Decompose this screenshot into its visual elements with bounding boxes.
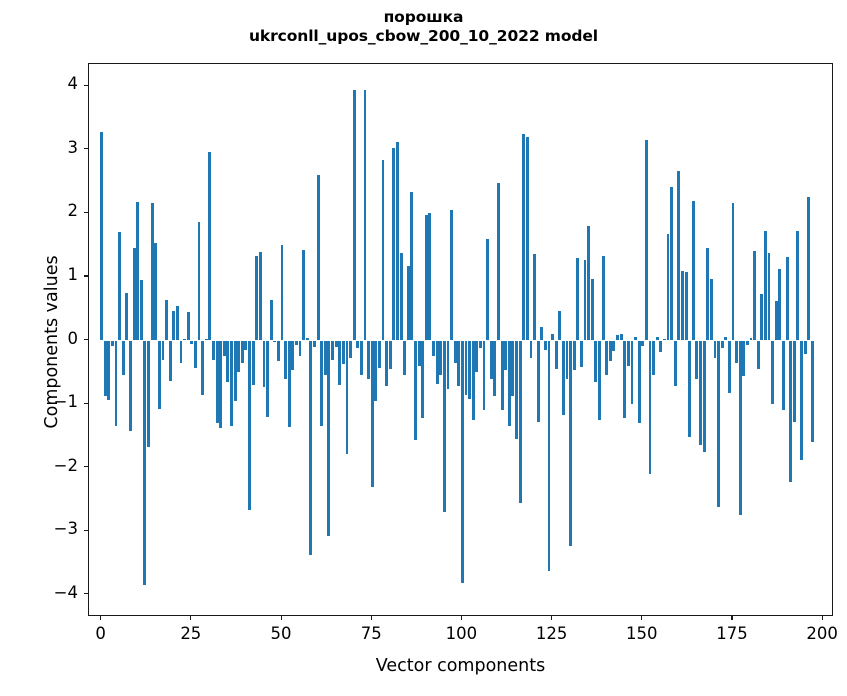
bar <box>641 341 644 346</box>
bar <box>338 341 341 385</box>
bar <box>782 341 785 411</box>
bar <box>450 210 453 341</box>
bar <box>447 341 450 390</box>
bar <box>403 341 406 376</box>
bar <box>392 148 395 341</box>
bar <box>486 239 489 341</box>
chart-title-line1: порошка <box>384 8 464 26</box>
bar <box>187 312 190 341</box>
bar <box>771 341 774 405</box>
bar <box>685 272 688 340</box>
bar <box>212 341 215 360</box>
y-tick-mark <box>84 466 88 467</box>
figure-canvas: порошкаukrconll_upos_cbow_200_10_2022 mo… <box>0 0 847 696</box>
bar <box>728 341 731 393</box>
bar <box>468 341 471 399</box>
bar <box>558 311 561 341</box>
bar <box>263 341 266 387</box>
bar <box>172 311 175 341</box>
bar <box>414 341 417 440</box>
bar <box>649 341 652 474</box>
bar <box>530 341 533 359</box>
x-tick-label: 50 <box>241 624 321 644</box>
bar <box>198 222 201 340</box>
bar <box>677 171 680 341</box>
chart-title: порошкаukrconll_upos_cbow_200_10_2022 mo… <box>0 8 847 46</box>
bar <box>609 341 612 362</box>
bar <box>739 341 742 516</box>
chart-title-line2: ukrconll_upos_cbow_200_10_2022 model <box>249 27 598 45</box>
bar <box>638 341 641 424</box>
bar <box>389 341 392 370</box>
bar <box>522 134 525 341</box>
bar <box>205 339 208 340</box>
plot-area <box>88 63 833 616</box>
y-tick-mark <box>84 212 88 213</box>
bar <box>548 341 551 571</box>
bar <box>472 341 475 420</box>
bar <box>778 269 781 341</box>
bar <box>515 341 518 440</box>
bar <box>410 192 413 340</box>
bar <box>461 341 464 583</box>
bar <box>753 251 756 341</box>
bar <box>226 341 229 383</box>
x-tick-label: 0 <box>61 624 141 644</box>
bar <box>324 341 327 376</box>
bar <box>674 341 677 387</box>
bar <box>732 203 735 341</box>
bar <box>407 266 410 340</box>
bar <box>400 253 403 341</box>
bar <box>735 341 738 363</box>
bar <box>757 341 760 370</box>
y-tick-mark <box>84 275 88 276</box>
bar <box>270 300 273 340</box>
bar <box>255 256 258 341</box>
x-tick-label: 125 <box>512 624 592 644</box>
bar <box>169 341 172 382</box>
bar <box>533 254 536 340</box>
bar <box>190 341 193 344</box>
bar <box>587 226 590 340</box>
bar <box>501 341 504 411</box>
bar <box>353 90 356 340</box>
bar <box>804 341 807 355</box>
bar <box>540 327 543 341</box>
bar <box>717 341 720 508</box>
bar <box>692 201 695 341</box>
y-tick-label: −2 <box>6 458 78 475</box>
bar <box>555 341 558 370</box>
bar <box>248 341 251 510</box>
x-tick-mark <box>731 616 732 620</box>
bar <box>652 341 655 376</box>
bar <box>594 341 597 382</box>
bar <box>443 341 446 513</box>
bar <box>360 341 363 376</box>
x-tick-mark <box>190 616 191 620</box>
bar <box>331 341 334 360</box>
bar <box>490 341 493 379</box>
bar <box>223 341 226 357</box>
bar <box>140 280 143 340</box>
bar <box>580 341 583 368</box>
bar <box>302 250 305 340</box>
x-tick-label: 100 <box>421 624 501 644</box>
bar <box>721 341 724 349</box>
bar <box>425 215 428 340</box>
bar <box>230 341 233 427</box>
x-tick-label: 150 <box>602 624 682 644</box>
bar <box>670 187 673 341</box>
bar <box>768 253 771 340</box>
bar <box>584 260 587 341</box>
bar <box>775 301 778 340</box>
bar <box>281 245 284 341</box>
bar <box>623 341 626 419</box>
bar <box>136 202 139 341</box>
bar <box>714 341 717 359</box>
bar <box>710 279 713 341</box>
bar <box>612 341 615 352</box>
bar <box>317 175 320 340</box>
bar <box>335 341 338 347</box>
x-tick-label: 200 <box>782 624 847 644</box>
bar <box>760 294 763 340</box>
bar <box>201 341 204 396</box>
bar <box>244 341 247 351</box>
bar <box>147 341 150 447</box>
bar <box>454 341 457 363</box>
x-tick-label: 175 <box>692 624 772 644</box>
y-tick-mark <box>84 85 88 86</box>
y-tick-label: 1 <box>6 267 78 284</box>
bar <box>107 341 110 400</box>
bar <box>724 337 727 340</box>
x-tick-mark <box>461 616 462 620</box>
bar <box>605 341 608 376</box>
bar <box>118 232 121 340</box>
bar <box>436 341 439 384</box>
bar <box>234 341 237 401</box>
x-tick-label: 25 <box>151 624 231 644</box>
bar <box>627 341 630 366</box>
bar <box>151 203 154 341</box>
bar <box>273 341 276 342</box>
bar <box>659 341 662 352</box>
bar <box>807 197 810 341</box>
x-tick-mark <box>641 616 642 620</box>
bar <box>645 140 648 341</box>
bar <box>576 258 579 341</box>
y-tick-label: 2 <box>6 203 78 220</box>
bar <box>811 341 814 443</box>
bar <box>237 341 240 373</box>
bar <box>591 279 594 341</box>
bar <box>511 341 514 397</box>
bar <box>295 341 298 345</box>
bar <box>364 90 367 340</box>
bar <box>216 341 219 424</box>
bar <box>208 152 211 341</box>
bar <box>569 341 572 547</box>
bar <box>475 341 478 373</box>
y-tick-mark <box>84 530 88 531</box>
bar-series <box>89 64 832 615</box>
bar <box>133 248 136 340</box>
bar <box>259 252 262 341</box>
bar <box>288 341 291 427</box>
bar <box>313 341 316 347</box>
bar <box>154 243 157 340</box>
bar <box>566 341 569 379</box>
bar <box>165 300 168 340</box>
bar <box>504 341 507 371</box>
bar <box>129 341 132 431</box>
bar <box>396 142 399 340</box>
bar <box>421 341 424 419</box>
bar <box>537 341 540 422</box>
bar <box>115 341 118 427</box>
y-tick-label: −3 <box>6 521 78 538</box>
bar <box>796 231 799 341</box>
bar <box>299 341 302 356</box>
bar <box>526 137 529 340</box>
bar <box>681 271 684 341</box>
bar <box>327 341 330 536</box>
bar <box>277 341 280 361</box>
bar <box>104 341 107 397</box>
bar <box>706 248 709 340</box>
bar <box>544 341 547 351</box>
bar <box>241 341 244 363</box>
bar <box>385 341 388 387</box>
bar <box>439 341 442 376</box>
bar <box>598 341 601 420</box>
bar <box>306 338 309 341</box>
bar <box>309 341 312 556</box>
bar <box>125 293 128 341</box>
bar <box>418 341 421 366</box>
bar <box>786 257 789 341</box>
bar <box>493 341 496 397</box>
bar <box>551 334 554 340</box>
x-axis-label: Vector components <box>88 656 833 676</box>
bar <box>349 341 352 359</box>
bar <box>800 341 803 460</box>
y-tick-label: 0 <box>6 331 78 348</box>
bar <box>703 341 706 452</box>
x-tick-mark <box>822 616 823 620</box>
bar <box>180 341 183 363</box>
bar <box>143 341 146 586</box>
bar <box>382 160 385 341</box>
x-tick-label: 75 <box>331 624 411 644</box>
bar <box>284 341 287 379</box>
bar <box>656 337 659 340</box>
bar <box>320 341 323 426</box>
bar <box>158 341 161 409</box>
bar <box>746 341 749 345</box>
bar <box>764 231 767 341</box>
bar <box>291 341 294 371</box>
bar <box>508 341 511 427</box>
bar <box>100 132 103 340</box>
bar <box>342 341 345 365</box>
bar <box>183 339 186 340</box>
bar <box>374 341 377 401</box>
bar <box>497 183 500 340</box>
x-tick-mark <box>551 616 552 620</box>
bar <box>483 341 486 411</box>
bar <box>602 256 605 341</box>
bar <box>266 341 269 417</box>
bar <box>695 341 698 379</box>
bar <box>793 341 796 422</box>
bar <box>356 341 359 349</box>
y-tick-mark <box>84 403 88 404</box>
bar <box>688 341 691 438</box>
bar <box>663 339 666 340</box>
bar <box>122 341 125 376</box>
y-tick-label: 3 <box>6 140 78 157</box>
bar <box>378 341 381 368</box>
bar <box>194 341 197 369</box>
bar <box>162 341 165 360</box>
bar <box>573 341 576 370</box>
y-tick-label: −4 <box>6 585 78 602</box>
bar <box>742 341 745 377</box>
bar <box>367 341 370 379</box>
y-tick-label: 4 <box>6 76 78 93</box>
bar <box>667 234 670 341</box>
bar <box>699 341 702 446</box>
bar <box>219 341 222 428</box>
y-tick-label: −1 <box>6 394 78 411</box>
y-tick-mark <box>84 148 88 149</box>
bar <box>750 338 753 341</box>
bar <box>789 341 792 482</box>
bar <box>252 341 255 385</box>
y-tick-mark <box>84 593 88 594</box>
bar <box>562 341 565 415</box>
bar <box>631 341 634 405</box>
bar <box>465 341 468 395</box>
bar <box>111 341 114 346</box>
bar <box>479 341 482 349</box>
bar <box>457 341 460 387</box>
x-tick-mark <box>100 616 101 620</box>
bar <box>428 213 431 340</box>
bar <box>432 341 435 357</box>
x-tick-mark <box>371 616 372 620</box>
bar <box>616 335 619 340</box>
bar <box>346 341 349 454</box>
y-tick-mark <box>84 339 88 340</box>
bar <box>176 306 179 341</box>
bar <box>620 334 623 340</box>
x-tick-mark <box>281 616 282 620</box>
bar <box>634 337 637 341</box>
bar <box>371 341 374 488</box>
bar <box>519 341 522 503</box>
